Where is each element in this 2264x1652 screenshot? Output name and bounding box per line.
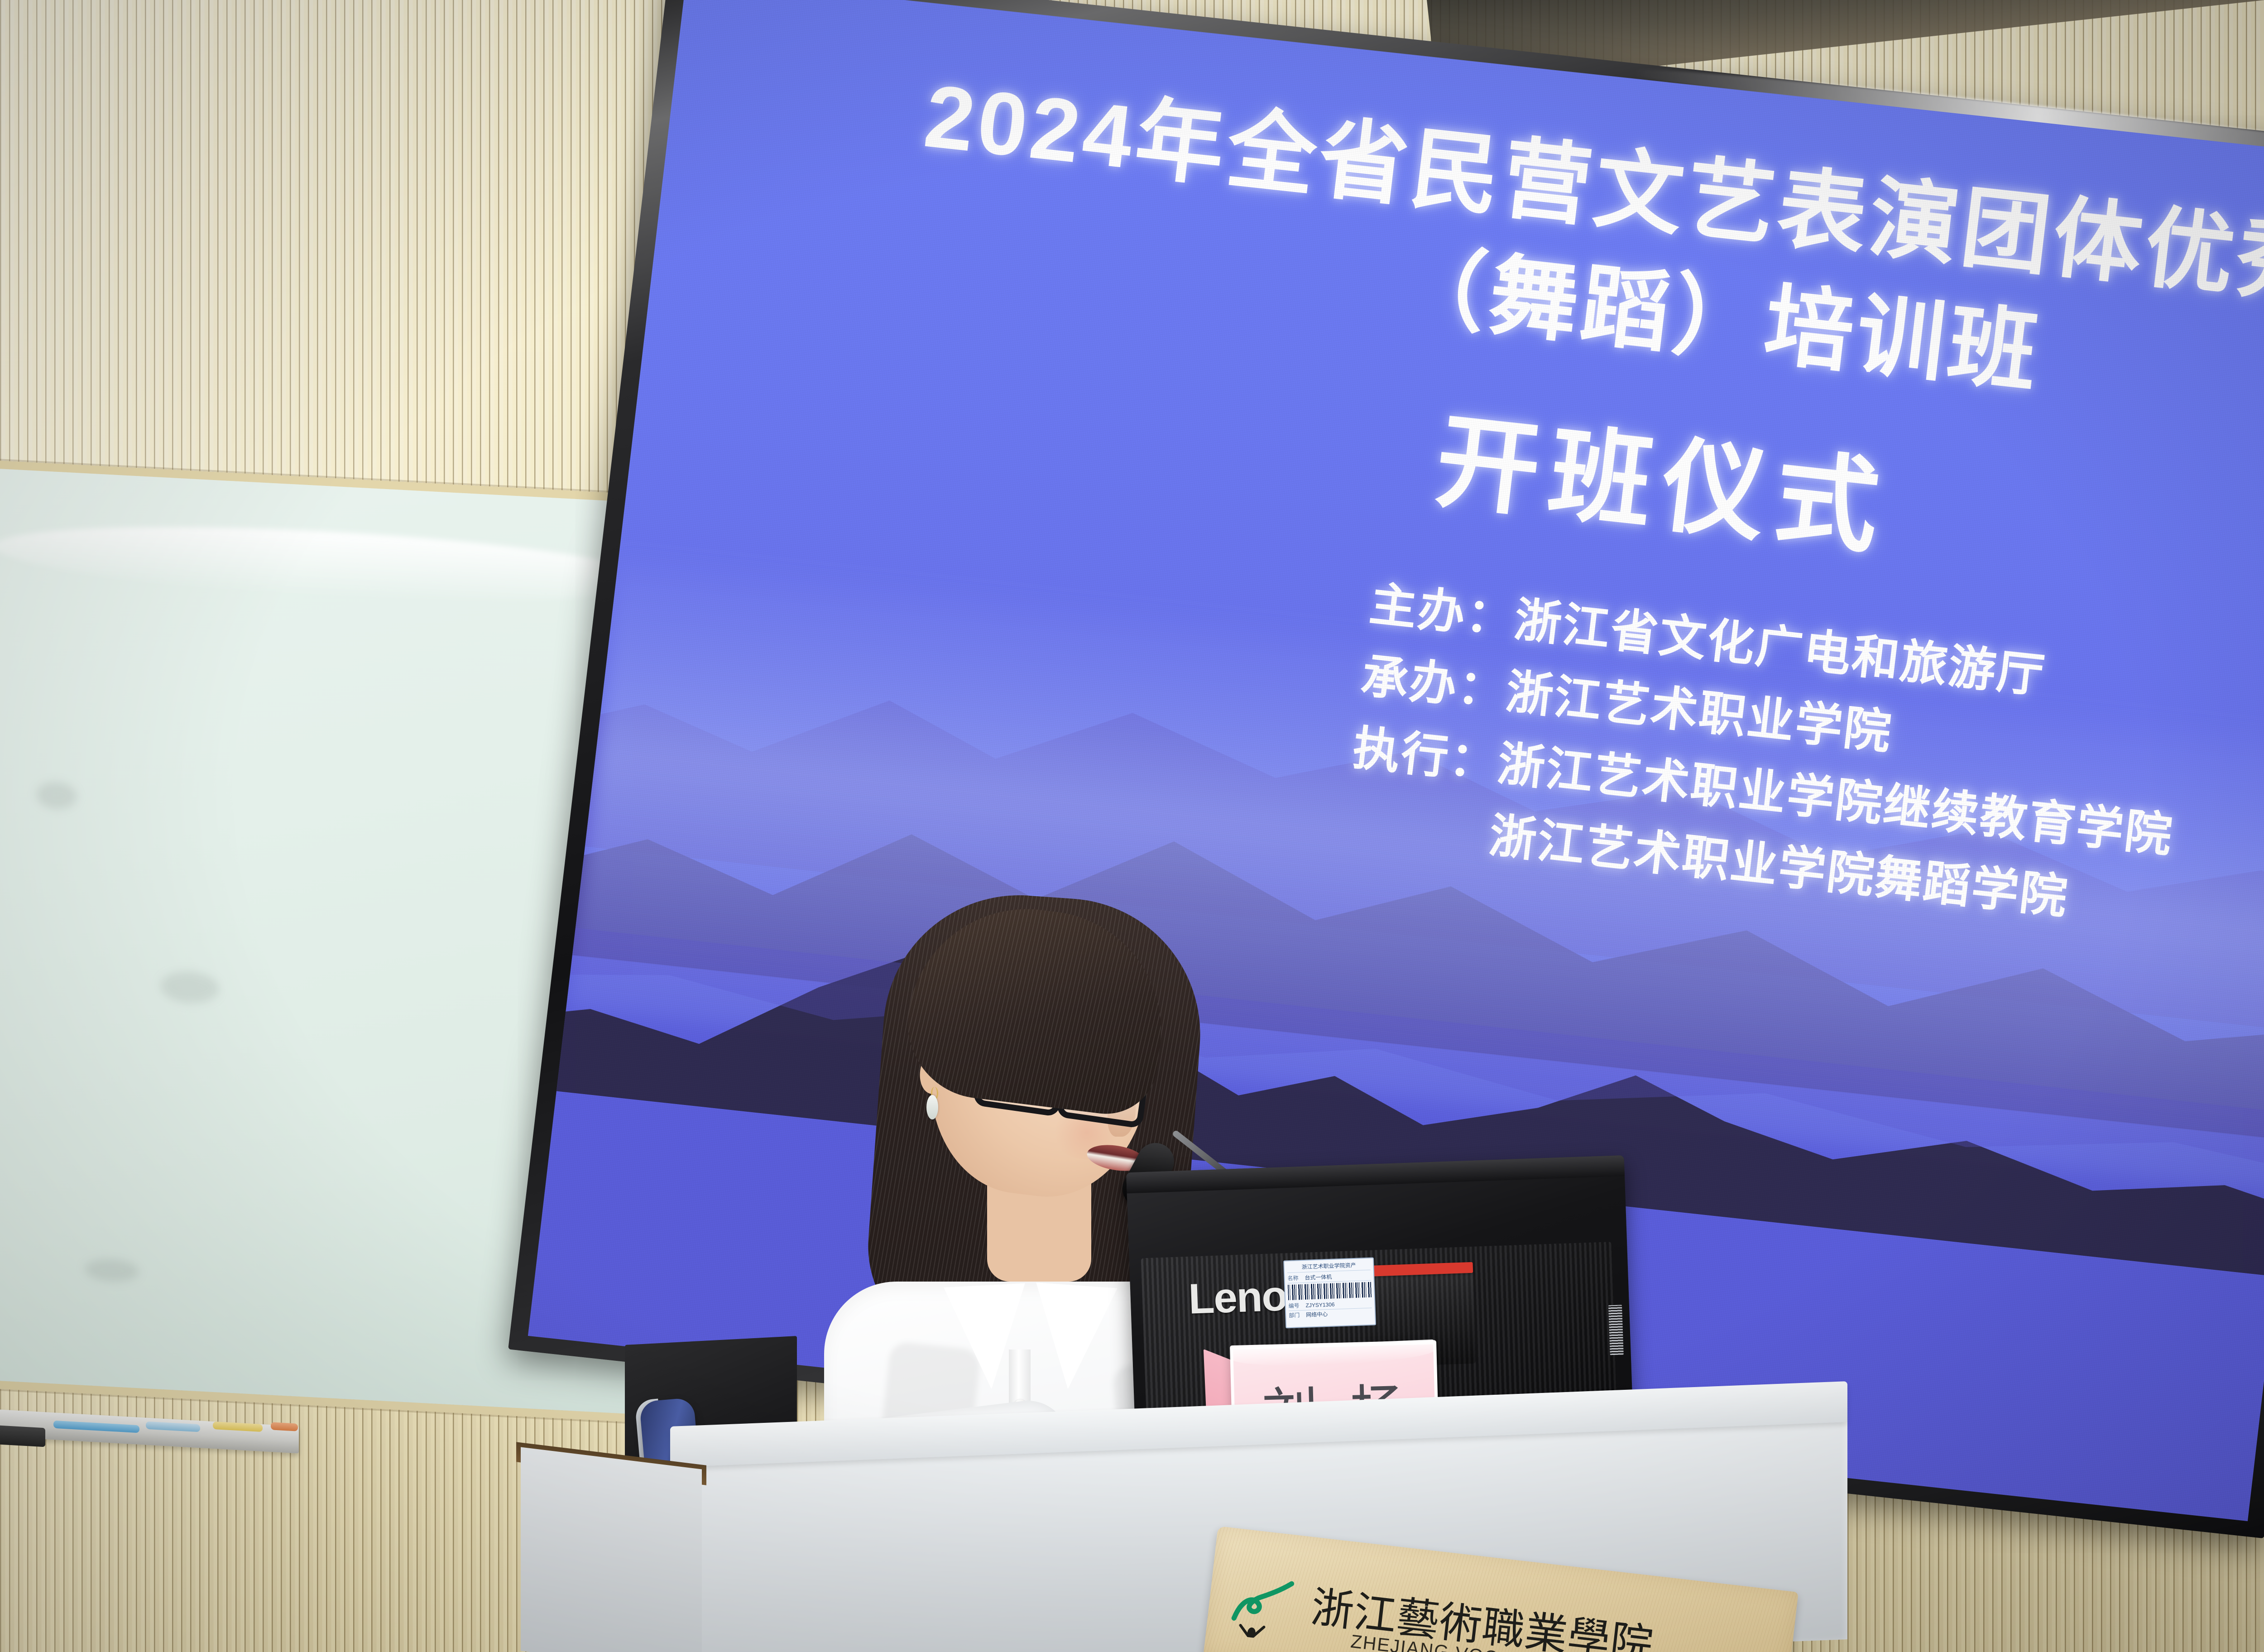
whiteboard-eraser[interactable] xyxy=(0,1425,45,1447)
asset-tag-key: 编号 xyxy=(1288,1301,1304,1310)
screen-headline: 开班仪式 xyxy=(1429,377,1898,574)
asset-tag-value: ZJYSY1306 xyxy=(1305,1301,1335,1310)
asset-tag-value: 网络中心 xyxy=(1306,1310,1328,1319)
asset-tag-key: 部门 xyxy=(1289,1311,1305,1320)
photo-scene: 2024年全省民营文艺表演团体优秀剧团演员 （舞蹈）培训班 开班仪式 主办：浙江… xyxy=(0,0,2264,1652)
asset-tag-label: 浙江艺术职业学院资产 名称台式一体机 编号ZJYSY1306 部门网络中心 xyxy=(1283,1257,1376,1328)
jade-earring xyxy=(926,1095,938,1119)
asset-tag-value: 台式一体机 xyxy=(1305,1273,1332,1282)
academy-swoosh-icon xyxy=(1224,1567,1308,1643)
barcode-icon xyxy=(1288,1282,1372,1300)
podium-left-side xyxy=(521,1447,702,1652)
asset-tag-key: 名称 xyxy=(1287,1274,1303,1282)
podium: 浙江藝術職業學院 ZHEJIANG VOCATIONAL ACADEMY OF … xyxy=(670,1404,1847,1652)
marker-orange xyxy=(271,1422,298,1431)
monitor-barcode-sticker xyxy=(1608,1305,1624,1355)
